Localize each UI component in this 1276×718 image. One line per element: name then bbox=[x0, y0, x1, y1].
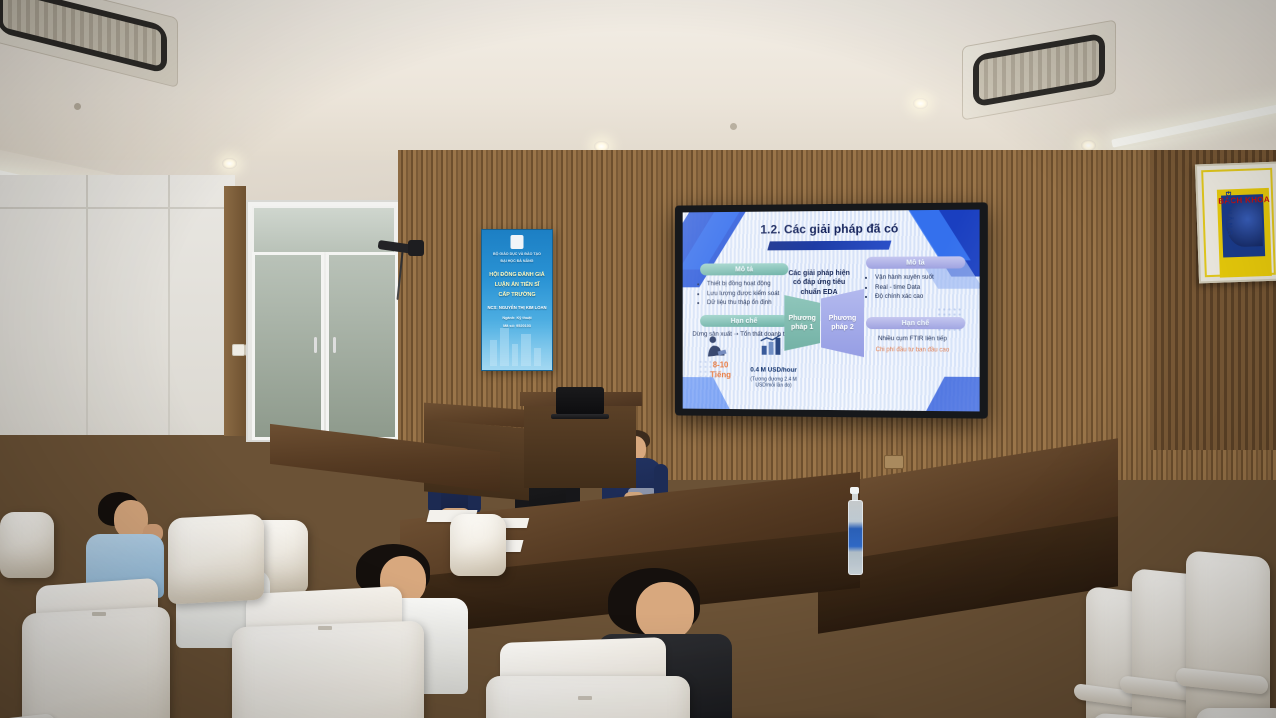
chair-brand-tag bbox=[92, 612, 106, 616]
standee-skyline-graphic bbox=[482, 318, 552, 370]
bottle-body bbox=[848, 500, 863, 575]
left-panel-limit-pill: Hạn chế bbox=[700, 315, 788, 327]
standee-line-2: LUẬN ÁN TIẾN SĨ bbox=[482, 282, 552, 288]
left-panel-bullets: Thiết bị đồng hoạt động Lưu lượng được k… bbox=[698, 279, 792, 308]
list-item: Real - time Data bbox=[875, 282, 967, 292]
slide-title-underline-bar bbox=[767, 241, 891, 251]
slide-title: 1.2. Các giải pháp đã có bbox=[683, 221, 980, 237]
method-1-label: Phương pháp 1 bbox=[784, 314, 820, 332]
person-sitting-icon bbox=[704, 335, 729, 359]
list-item: Độ chính xác cao bbox=[875, 292, 967, 302]
light-switch[interactable] bbox=[232, 344, 245, 356]
door-transom-window bbox=[252, 206, 396, 254]
door-right-panel[interactable] bbox=[326, 252, 398, 440]
presentation-screen[interactable]: 1.2. Các giải pháp đã có Mô tả Thiết bị … bbox=[675, 202, 988, 418]
wall-seam bbox=[168, 175, 170, 435]
right-panel-limit-text: Nhiều cụm FTIR liên tiếp bbox=[860, 335, 965, 342]
list-item: Dữ liệu thu thập ổn định bbox=[707, 298, 792, 308]
chair-backrest bbox=[0, 512, 54, 578]
cost-note: (Tương đương 2.4 M USD/mỗi lần đo) bbox=[743, 376, 804, 389]
method-2-shape: Phương pháp 2 bbox=[821, 289, 864, 357]
list-item: Vận hành xuyên suốt bbox=[875, 272, 967, 282]
wall-outlet[interactable] bbox=[884, 455, 904, 469]
ac-grille bbox=[979, 39, 1099, 100]
poster-da-nang-text: ĐÀ NẴNG bbox=[1224, 191, 1235, 237]
method-2-label: Phương pháp 2 bbox=[821, 314, 864, 332]
university-logo-icon bbox=[511, 235, 524, 249]
downtime-hours-value: 8-10 Tiếng bbox=[704, 360, 737, 379]
right-panel-limit-label: Hạn chế bbox=[902, 320, 930, 327]
door-handle[interactable] bbox=[314, 337, 317, 353]
chair-backrest bbox=[1196, 708, 1276, 718]
event-standee-banner: BỘ GIÁO DỤC VÀ ĐÀO TẠO ĐẠI HỌC ĐÀ NẴNG H… bbox=[481, 229, 553, 371]
water-bottle[interactable] bbox=[848, 487, 861, 573]
center-statement: Các giải pháp hiện có đáp ứng tiêu chuẩn… bbox=[786, 269, 852, 297]
chair-backrest bbox=[450, 514, 506, 576]
right-panel-bullets: Vận hành xuyên suốt Real - time Data Độ … bbox=[866, 272, 967, 301]
laptop-base[interactable] bbox=[551, 414, 609, 419]
wall-seam bbox=[86, 175, 88, 435]
projector-device bbox=[408, 240, 424, 256]
slide-decor-shape bbox=[921, 377, 980, 412]
right-panel-header-pill: Mô tả bbox=[866, 256, 965, 269]
sprinkler-head bbox=[74, 103, 81, 110]
left-panel-header-label: Mô tả bbox=[735, 266, 753, 273]
right-panel-header-label: Mô tả bbox=[906, 259, 925, 266]
chair-backrest bbox=[168, 513, 264, 604]
chair-backrest bbox=[22, 606, 170, 718]
standee-line-3: CẤP TRƯỜNG bbox=[482, 292, 552, 298]
poster-inner-border: BÁCH KHOA ĐÀ NẴNG bbox=[1201, 168, 1276, 277]
cost-figure: 0.4 M USD/hour (Tương đương 2.4 M USD/mỗ… bbox=[743, 359, 804, 390]
chair-brand-tag bbox=[318, 626, 332, 630]
method-1-shape: Phương pháp 1 bbox=[784, 295, 820, 351]
door-left-panel[interactable] bbox=[252, 252, 324, 440]
bach-khoa-da-nang-poster: BÁCH KHOA ĐÀ NẴNG bbox=[1195, 162, 1276, 284]
ceiling-downlight bbox=[222, 158, 237, 169]
left-white-wall bbox=[0, 175, 235, 435]
standee-line-1: HỘI ĐỒNG ĐÁNH GIÁ bbox=[482, 272, 552, 278]
right-panel-limit-note: Chi phí đầu tư ban đầu cao bbox=[860, 347, 965, 353]
bar-chart-icon bbox=[759, 333, 783, 357]
slide-decor-shape bbox=[683, 377, 734, 412]
list-item: Thiết bị đồng hoạt động bbox=[707, 279, 792, 289]
slide-content: 1.2. Các giải pháp đã có Mô tả Thiết bị … bbox=[683, 210, 980, 412]
sprinkler-head bbox=[730, 123, 737, 130]
right-panel-limit-pill: Hạn chế bbox=[866, 317, 965, 329]
audience-head bbox=[636, 582, 694, 640]
standee-line-4: NCS: NGUYỄN THỊ KIM LOAN bbox=[482, 306, 552, 311]
cost-value: 0.4 M USD/hour bbox=[750, 367, 797, 374]
wall-seam bbox=[0, 207, 235, 209]
ceiling-downlight bbox=[913, 98, 928, 109]
door-handle[interactable] bbox=[333, 337, 336, 353]
wood-trim-column bbox=[224, 186, 246, 436]
chair-backrest bbox=[232, 621, 424, 718]
chair-brand-tag bbox=[578, 696, 592, 700]
ac-inner-frame bbox=[973, 32, 1105, 107]
meeting-room-photo: BÁCH KHOA ĐÀ NẴNG BỘ GIÁO DỤC VÀ ĐÀO TẠO… bbox=[0, 0, 1276, 718]
left-panel-limit-label: Hạn chế bbox=[731, 317, 758, 324]
list-item: Lưu lượng được kiểm soát bbox=[707, 289, 792, 299]
left-panel-header-pill: Mô tả bbox=[700, 263, 788, 275]
laptop-screen[interactable] bbox=[556, 387, 604, 415]
